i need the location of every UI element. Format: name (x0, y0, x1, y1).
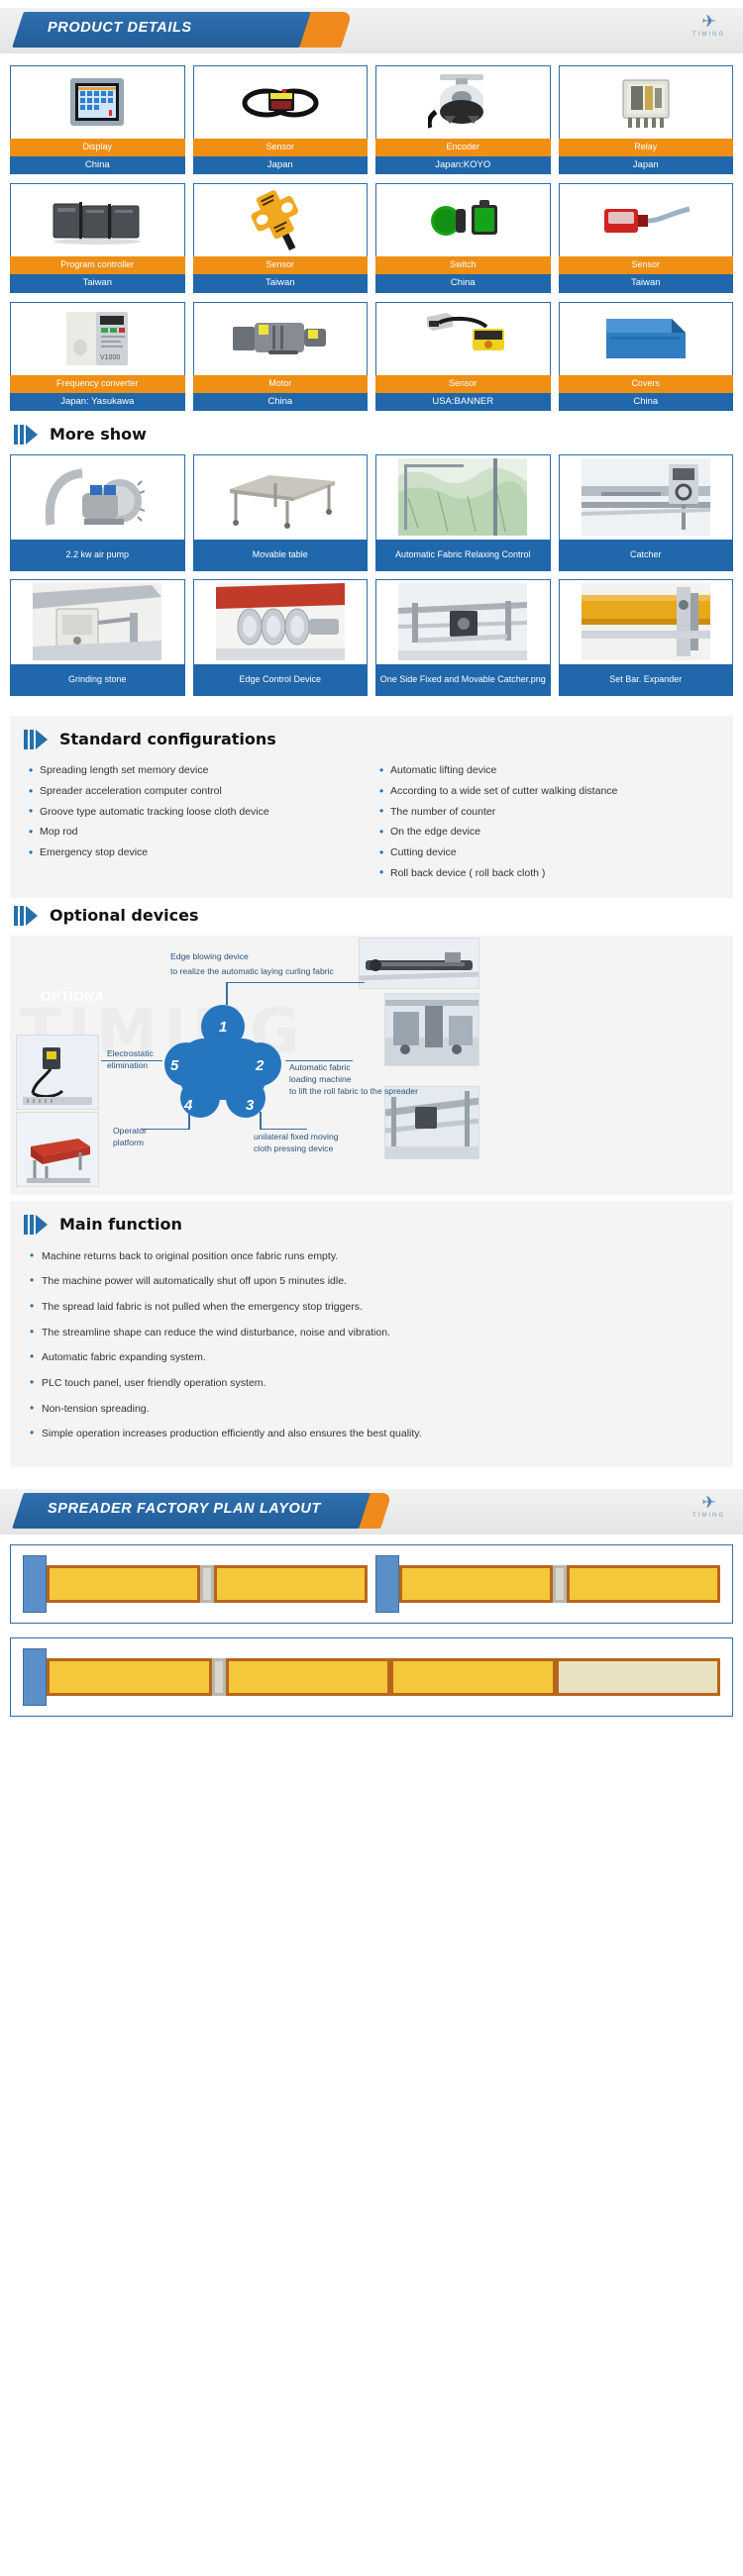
node-label-2-line1: Automatic fabric (289, 1062, 351, 1074)
show-caption: Automatic Fabric Relaxing Control (375, 540, 551, 571)
connector-line-3b (260, 1129, 307, 1131)
standard-configurations-columns: Spreading length set memory device Sprea… (10, 759, 733, 884)
node-number-5: 5 (170, 1057, 178, 1074)
product-card[interactable]: Covers China (559, 302, 734, 411)
factory-layout-banner: SPREADER FACTORY PLAN LAYOUT ✈ TIMING (0, 1489, 743, 1535)
product-name: Sensor (375, 375, 551, 393)
show-caption: Grinding stone (10, 664, 185, 696)
main-function-heading: Main function (10, 1207, 733, 1244)
list-item: Mop rod (28, 823, 365, 843)
show-card[interactable]: Set Bar. Expander (559, 579, 734, 696)
product-card[interactable]: V1000 Frequency converter Japan: Yasukaw… (10, 302, 185, 411)
connector-line-1-top (226, 982, 365, 984)
node-label-1-line1: Edge blowing device (170, 951, 249, 963)
relay-icon (559, 65, 734, 139)
bar-expander-icon (559, 579, 734, 664)
product-origin: China (10, 156, 185, 174)
list-item: According to a wide set of cutter walkin… (378, 782, 715, 803)
product-name: Program controller (10, 256, 185, 274)
list-item: The machine power will automatically shu… (28, 1269, 715, 1295)
product-card[interactable]: Sensor Taiwan (193, 183, 369, 292)
cutting-table-segment (567, 1565, 720, 1603)
list-item: Emergency stop device (28, 843, 365, 864)
show-card[interactable]: Movable table (193, 454, 369, 571)
list-item: The spread laid fabric is not pulled whe… (28, 1295, 715, 1321)
more-show-grid: 2.2 kw air pump Movable table Automatic … (0, 454, 743, 710)
product-name: Switch (375, 256, 551, 274)
chevron-bars-icon (24, 730, 48, 749)
section-title: More show (50, 425, 147, 444)
product-card[interactable]: Relay Japan (559, 65, 734, 174)
rotary-encoder-icon (375, 65, 551, 139)
yellow-safety-sensor-icon (193, 183, 369, 256)
show-card[interactable]: Grinding stone (10, 579, 185, 696)
product-origin: Japan (193, 156, 369, 174)
cutting-table-segment (399, 1565, 553, 1603)
banner-sensor-icon (375, 302, 551, 375)
node-label-2-line2: loading machine (289, 1074, 352, 1086)
node-label-5-line2: elimination (107, 1060, 148, 1072)
page-title: PRODUCT DETAILS (48, 20, 192, 36)
list-item: Automatic fabric expanding system. (28, 1345, 715, 1371)
product-origin: Taiwan (559, 274, 734, 292)
product-name: Display (10, 139, 185, 156)
node-label-1-line2: to realize the automatic laying curling … (170, 966, 334, 978)
hmi-touch-panel-icon (10, 65, 185, 139)
logo-wordmark: TIMING (692, 32, 725, 38)
standard-configurations-heading: Standard configurations (10, 722, 733, 759)
spreader-rail (23, 1555, 47, 1613)
show-card[interactable]: 2.2 kw air pump (10, 454, 185, 571)
product-name: Encoder (375, 139, 551, 156)
product-card[interactable]: Sensor USA:BANNER (375, 302, 551, 411)
product-origin: China (375, 274, 551, 292)
node-label-3-line1: unilateral fixed moving (254, 1132, 339, 1143)
product-card[interactable]: Switch China (375, 183, 551, 292)
list-item: PLC touch panel, user friendly operation… (28, 1371, 715, 1397)
optional-devices-diagram: TIMING (10, 936, 733, 1195)
product-origin: Taiwan (10, 274, 185, 292)
show-caption: Edge Control Device (193, 664, 369, 696)
product-origin: Japan:KOYO (375, 156, 551, 174)
list-item: Non-tension spreading. (28, 1397, 715, 1423)
section-title: Main function (59, 1215, 182, 1234)
factory-layout-title: SPREADER FACTORY PLAN LAYOUT (48, 1501, 321, 1517)
cutting-table-segment (214, 1565, 368, 1603)
connector-line-4 (188, 1112, 190, 1130)
optional-devices-heading: Optional devices (0, 898, 743, 936)
standard-configurations-panel: Standard configurations Spreading length… (10, 716, 733, 898)
product-card[interactable]: Encoder Japan:KOYO (375, 65, 551, 174)
logo-bird-icon: ✈ (692, 1495, 725, 1512)
layout-row (23, 1648, 720, 1706)
node-label-4-line1: Operator (113, 1126, 147, 1138)
brand-logo: ✈ TIMING (692, 1495, 725, 1519)
cable-sensor-icon (193, 65, 369, 139)
product-name: Sensor (193, 139, 369, 156)
list-item: Groove type automatic tracking loose clo… (28, 802, 365, 823)
node-number-1: 1 (219, 1019, 227, 1036)
blue-cover-icon (559, 302, 734, 375)
table-gap (200, 1565, 214, 1603)
plc-module-icon (10, 183, 185, 256)
brand-logo: ✈ TIMING (692, 14, 725, 38)
chevron-bars-icon (14, 425, 38, 445)
node-number-4: 4 (184, 1097, 192, 1114)
node-label-5-line1: Electrostatic (107, 1048, 154, 1060)
logo-wordmark: TIMING (692, 1513, 725, 1519)
product-origin: Japan (559, 156, 734, 174)
connector-line-4b (141, 1129, 190, 1131)
edge-control-icon (193, 579, 369, 664)
edge-blowing-device-photo[interactable] (359, 938, 479, 989)
node-label-2-line3: to lift the roll fabric to the spreader (289, 1086, 418, 1098)
cloud-center-label: OPTIONA (10, 989, 135, 1004)
node-number-2: 2 (256, 1057, 264, 1074)
product-card[interactable]: Motor China (193, 302, 369, 411)
section-title: Optional devices (50, 906, 199, 925)
logo-bird-icon: ✈ (692, 14, 725, 31)
main-function-panel: Main function Machine returns back to or… (10, 1201, 733, 1467)
catcher-icon (559, 454, 734, 540)
movable-table-icon (193, 454, 369, 540)
product-name: Covers (559, 375, 734, 393)
factory-plan-diagram-2 (10, 1637, 733, 1717)
air-pump-icon (10, 454, 185, 540)
node-number-3: 3 (246, 1097, 254, 1114)
list-item: Spreading length set memory device (28, 761, 365, 782)
product-name: Relay (559, 139, 734, 156)
operator-platform-photo[interactable] (16, 1112, 99, 1187)
cutting-table-segment (47, 1658, 212, 1696)
show-caption: Catcher (559, 540, 734, 571)
show-card[interactable]: One Side Fixed and Movable Catcher.png (375, 579, 551, 696)
product-origin: China (193, 393, 369, 411)
main-function-list: Machine returns back to original positio… (10, 1244, 733, 1453)
list-item: Simple operation increases production ef… (28, 1422, 715, 1447)
green-push-button-icon (375, 183, 551, 256)
electrostatic-device-photo[interactable] (16, 1035, 99, 1110)
page-bottom-spacer (0, 1717, 743, 1734)
node-label-4-line2: platform (113, 1138, 144, 1149)
list-item: Automatic lifting device (378, 761, 715, 782)
show-caption: Set Bar. Expander (559, 664, 734, 696)
layout-row (23, 1555, 720, 1613)
table-gap (553, 1565, 567, 1603)
product-origin: Taiwan (193, 274, 369, 292)
chevron-bars-icon (14, 906, 38, 926)
table-gap (212, 1658, 226, 1696)
product-origin: Japan: Yasukawa (10, 393, 185, 411)
show-caption: Movable table (193, 540, 369, 571)
product-name: Motor (193, 375, 369, 393)
show-caption: One Side Fixed and Movable Catcher.png (375, 664, 551, 696)
vfd-drive-icon: V1000 (10, 302, 185, 375)
layout-spacer (368, 1555, 375, 1613)
movable-catcher-icon (375, 579, 551, 664)
config-list-left: Spreading length set memory device Sprea… (28, 761, 365, 884)
product-details-banner: PRODUCT DETAILS ✈ TIMING (0, 8, 743, 53)
product-details-grid: Display China Sensor Japan Encoder Japan… (0, 53, 743, 417)
cutting-table-segment (390, 1658, 556, 1696)
product-card[interactable]: Sensor Japan (193, 65, 369, 174)
config-list-right: Automatic lifting device According to a … (378, 761, 715, 884)
spreader-rail (375, 1555, 399, 1613)
servo-motor-icon (193, 302, 369, 375)
list-item: The streamline shape can reduce the wind… (28, 1321, 715, 1346)
product-card[interactable]: Program controller Taiwan (10, 183, 185, 292)
cutting-table-segment-end (556, 1658, 721, 1696)
svg-text:V1000: V1000 (100, 354, 120, 361)
cutting-table-segment (226, 1658, 391, 1696)
red-proximity-sensor-icon (559, 183, 734, 256)
node-label-3-line2: cloth pressing device (254, 1143, 333, 1155)
spreader-rail (23, 1648, 47, 1706)
show-caption: 2.2 kw air pump (10, 540, 185, 571)
fabric-loading-machine-photo[interactable] (384, 993, 479, 1066)
chevron-bars-icon (24, 1215, 48, 1235)
list-item: Cutting device (378, 843, 715, 864)
product-origin: China (559, 393, 734, 411)
show-card[interactable]: Automatic Fabric Relaxing Control (375, 454, 551, 571)
product-name: Sensor (559, 256, 734, 274)
product-name: Sensor (193, 256, 369, 274)
show-card[interactable]: Edge Control Device (193, 579, 369, 696)
show-card[interactable]: Catcher (559, 454, 734, 571)
list-item: On the edge device (378, 823, 715, 843)
list-item: Machine returns back to original positio… (28, 1244, 715, 1270)
more-show-heading: More show (0, 417, 743, 454)
product-origin: USA:BANNER (375, 393, 551, 411)
connector-line-3 (260, 1112, 262, 1130)
product-card[interactable]: Display China (10, 65, 185, 174)
section-title: Standard configurations (59, 730, 276, 748)
factory-plan-diagram (10, 1544, 733, 1624)
product-name: Frequency converter (10, 375, 185, 393)
list-item: The number of counter (378, 802, 715, 823)
grinding-stone-icon (10, 579, 185, 664)
product-card[interactable]: Sensor Taiwan (559, 183, 734, 292)
list-item: Roll back device ( roll back cloth ) (378, 863, 715, 884)
connector-line-1 (226, 983, 228, 1005)
cutting-table-segment (47, 1565, 200, 1603)
product-detail-page: PRODUCT DETAILS ✈ TIMING Display China S… (0, 8, 743, 1734)
list-item: Spreader acceleration computer control (28, 782, 365, 803)
fabric-relaxing-icon (375, 454, 551, 540)
